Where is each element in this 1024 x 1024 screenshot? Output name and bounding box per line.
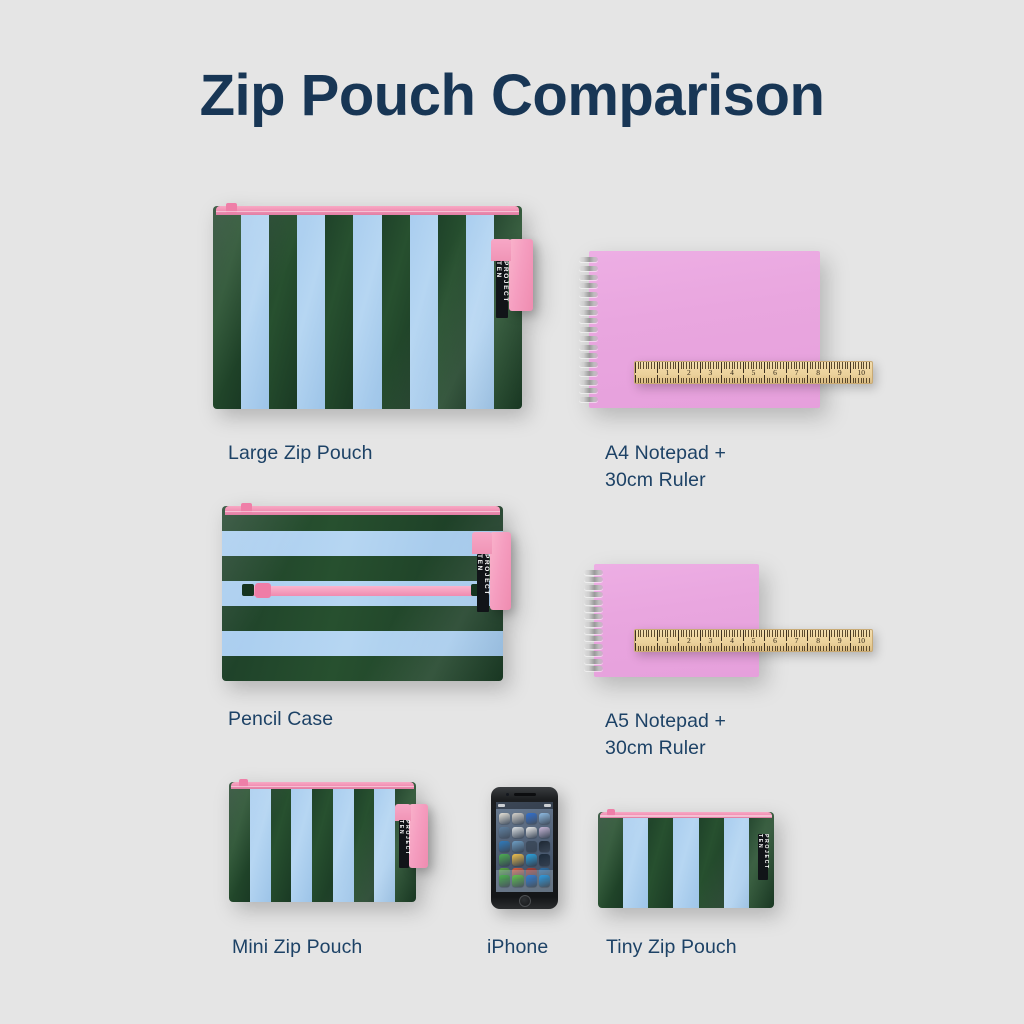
front-zipper-stop-left — [242, 584, 254, 596]
caption-tiny-zip-pouch: Tiny Zip Pouch — [606, 934, 737, 961]
app-icon[interactable] — [499, 841, 510, 852]
stripe-pattern-vertical — [598, 812, 774, 908]
pull-tab-fold — [472, 532, 492, 554]
stripe-green — [699, 812, 724, 908]
spiral-coil — [584, 577, 603, 582]
stripe-blue — [222, 531, 503, 556]
ruler-number: 5 — [743, 368, 765, 377]
spiral-coil — [584, 622, 603, 627]
brand-label: PROJECT TEN — [477, 554, 489, 612]
ruler-number: 10 — [850, 368, 872, 377]
stripe-blue — [222, 631, 503, 656]
pull-tab-fold — [491, 239, 511, 261]
app-icon[interactable] — [526, 854, 537, 865]
pull-tab[interactable] — [409, 804, 428, 868]
stripe-blue — [724, 812, 749, 908]
app-icon[interactable] — [512, 841, 523, 852]
caption-large-zip-pouch: Large Zip Pouch — [228, 440, 373, 467]
pull-tab[interactable] — [490, 532, 511, 610]
ruler-number: 3 — [700, 636, 722, 645]
spiral-binding — [583, 570, 603, 671]
dock-app-icon[interactable] — [526, 875, 537, 886]
top-zipper[interactable] — [216, 206, 519, 215]
phone-screen[interactable] — [496, 802, 553, 892]
spiral-coil — [579, 275, 598, 280]
spiral-coil — [584, 592, 603, 597]
ruler-number: 4 — [721, 368, 743, 377]
comparison-page: Zip Pouch Comparison PROJECT TEN Large Z… — [0, 0, 1024, 1024]
pouch-body — [213, 206, 522, 409]
spiral-coil — [579, 353, 598, 358]
tiny-zip-pouch[interactable]: PROJECT TEN — [598, 812, 774, 908]
spiral-coil — [584, 570, 603, 575]
ruler-number: 1 — [657, 636, 679, 645]
top-zipper[interactable] — [600, 812, 773, 818]
stripe-blue — [250, 782, 271, 902]
stripe-green — [269, 206, 297, 409]
ruler-number: 8 — [807, 636, 829, 645]
app-icon[interactable] — [526, 841, 537, 852]
status-bar — [496, 802, 553, 809]
spiral-coil — [584, 666, 603, 671]
ruler-30cm-a5[interactable]: 12345678910 — [634, 629, 873, 652]
spiral-coil — [584, 614, 603, 619]
app-icon[interactable] — [526, 813, 537, 824]
mini-zip-pouch[interactable]: PROJECT TEN — [229, 782, 416, 902]
spiral-coil — [579, 380, 598, 385]
caption-iphone: iPhone — [487, 934, 548, 961]
front-zipper[interactable] — [247, 586, 478, 596]
front-zipper-pull[interactable] — [255, 583, 271, 598]
stripe-blue — [374, 782, 395, 902]
app-icon[interactable] — [499, 827, 510, 838]
pouch-body — [598, 812, 774, 908]
app-icon[interactable] — [539, 827, 550, 838]
spiral-coil — [579, 336, 598, 341]
app-icon[interactable] — [526, 827, 537, 838]
app-icon[interactable] — [539, 854, 550, 865]
zipper-slider[interactable] — [226, 203, 237, 213]
zipper-slider[interactable] — [239, 779, 248, 787]
stripe-blue — [353, 206, 381, 409]
stripe-green — [229, 782, 250, 902]
spiral-coil — [579, 371, 598, 376]
stripe-green — [271, 782, 292, 902]
stripe-pattern-vertical — [229, 782, 416, 902]
stripe-blue — [297, 206, 325, 409]
stripe-green — [222, 556, 503, 581]
top-zipper[interactable] — [231, 782, 414, 789]
ruler-number: 9 — [829, 368, 851, 377]
app-icon[interactable] — [512, 854, 523, 865]
ruler-number: 3 — [700, 368, 722, 377]
spiral-coil — [584, 644, 603, 649]
zipper-slider[interactable] — [607, 809, 615, 816]
spiral-coil — [584, 636, 603, 641]
spiral-coil — [579, 266, 598, 271]
ruler-numbers: 12345678910 — [635, 636, 872, 645]
app-icon[interactable] — [499, 813, 510, 824]
stripe-green — [354, 782, 375, 902]
spiral-coil — [579, 257, 598, 262]
stripe-blue — [410, 206, 438, 409]
home-button[interactable] — [519, 895, 531, 907]
ruler-number: 1 — [657, 368, 679, 377]
brand-label: PROJECT TEN — [399, 820, 409, 868]
stripe-blue — [241, 206, 269, 409]
pull-tab-fold — [395, 804, 411, 821]
dock-app-icon[interactable] — [499, 875, 510, 886]
ruler-number: 6 — [764, 636, 786, 645]
stripe-blue — [291, 782, 312, 902]
app-icon[interactable] — [539, 813, 550, 824]
spiral-coil — [579, 310, 598, 315]
signal-icon — [498, 804, 505, 807]
brand-label: PROJECT TEN — [496, 261, 508, 318]
battery-icon — [544, 804, 551, 807]
ruler-number-spacer — [635, 368, 657, 377]
ruler-number: 8 — [807, 368, 829, 377]
spiral-coil — [579, 283, 598, 288]
spiral-coil — [579, 388, 598, 393]
spiral-coil — [584, 651, 603, 656]
stripe-green — [325, 206, 353, 409]
caption-pencil-case: Pencil Case — [228, 706, 333, 733]
a5-notepad[interactable] — [594, 564, 759, 677]
page-title: Zip Pouch Comparison — [0, 62, 1024, 129]
ruler-number: 5 — [743, 636, 765, 645]
ruler-number-spacer — [635, 636, 657, 645]
stripe-green — [438, 206, 466, 409]
stripe-blue — [466, 206, 494, 409]
stripe-green — [598, 812, 623, 908]
spiral-coil — [579, 397, 598, 402]
large-zip-pouch[interactable]: PROJECT TEN — [213, 206, 522, 409]
spiral-binding — [578, 257, 598, 402]
pouch-body — [229, 782, 416, 902]
app-icon[interactable] — [512, 827, 523, 838]
ruler-numbers: 12345678910 — [635, 368, 872, 377]
spiral-coil — [579, 318, 598, 323]
spiral-coil — [584, 600, 603, 605]
spiral-coil — [584, 607, 603, 612]
earpiece-speaker — [514, 793, 536, 796]
caption-mini-zip-pouch: Mini Zip Pouch — [232, 934, 362, 961]
pull-tab[interactable] — [509, 239, 533, 311]
stripe-green — [648, 812, 673, 908]
top-zipper[interactable] — [225, 506, 500, 515]
ruler-number: 6 — [764, 368, 786, 377]
ruler-number: 7 — [786, 636, 808, 645]
app-icon[interactable] — [499, 854, 510, 865]
pencil-case[interactable]: PROJECT TEN — [222, 506, 503, 681]
spiral-coil — [579, 362, 598, 367]
ruler-number: 7 — [786, 368, 808, 377]
stripe-green — [382, 206, 410, 409]
ruler-number: 2 — [678, 636, 700, 645]
spiral-coil — [584, 585, 603, 590]
dock-app-icon[interactable] — [539, 875, 550, 886]
app-icon[interactable] — [512, 813, 523, 824]
brand-label: PROJECT TEN — [758, 834, 768, 880]
ruler-30cm-a4[interactable]: 12345678910 — [634, 361, 873, 384]
stripe-pattern-vertical — [213, 206, 522, 409]
ruler-number: 2 — [678, 368, 700, 377]
ruler-number: 9 — [829, 636, 851, 645]
zipper-slider[interactable] — [241, 503, 252, 513]
spiral-coil — [584, 629, 603, 634]
stripe-blue — [333, 782, 354, 902]
dock-app-icon[interactable] — [512, 875, 523, 886]
caption-a4-notepad: A4 Notepad + 30cm Ruler — [605, 440, 726, 494]
spiral-coil — [579, 301, 598, 306]
stripe-green — [213, 206, 241, 409]
spiral-coil — [579, 345, 598, 350]
ruler-number: 4 — [721, 636, 743, 645]
spiral-coil — [579, 292, 598, 297]
stripe-blue — [623, 812, 648, 908]
app-icon[interactable] — [539, 841, 550, 852]
a4-notepad[interactable] — [589, 251, 820, 408]
spiral-coil — [584, 659, 603, 664]
stripe-blue — [673, 812, 698, 908]
ruler-number: 10 — [850, 636, 872, 645]
spiral-coil — [579, 327, 598, 332]
stripe-green — [312, 782, 333, 902]
stripe-green — [222, 606, 503, 631]
notepad-cover — [594, 564, 759, 677]
dock[interactable] — [496, 870, 553, 892]
iphone[interactable] — [491, 787, 558, 909]
front-camera — [506, 793, 510, 797]
caption-a5-notepad: A5 Notepad + 30cm Ruler — [605, 708, 726, 762]
stripe-green — [222, 656, 503, 681]
notepad-cover — [589, 251, 820, 408]
